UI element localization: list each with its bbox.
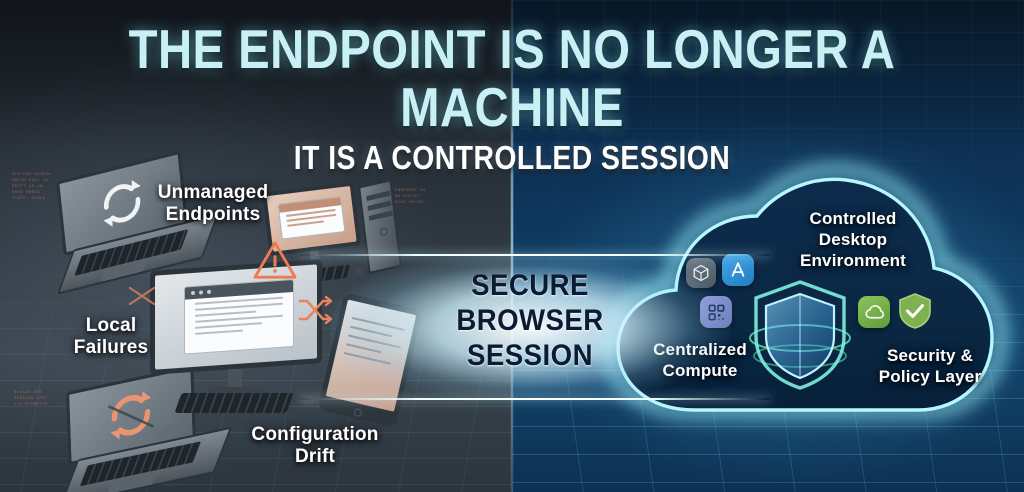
label-controlled-desktop-environment: Controlled Desktop Environment xyxy=(768,208,938,271)
sync-icon xyxy=(94,171,150,236)
monitor-mouse xyxy=(300,395,315,405)
label-line-1: Local xyxy=(56,315,166,337)
label-configuration-drift: Configuration Drift xyxy=(245,424,385,468)
label-line-1: Controlled xyxy=(768,208,938,229)
label-line-1: Security & xyxy=(855,345,1005,366)
text-line xyxy=(195,322,262,329)
cloud-icon xyxy=(864,302,885,323)
label-local-failures: Local Failures xyxy=(56,315,166,359)
warning-triangle-icon xyxy=(252,240,298,280)
label-line-1: Unmanaged xyxy=(148,182,278,204)
monitor-stand xyxy=(228,369,242,389)
app-tile-verified[interactable] xyxy=(898,292,932,330)
secure-browser-session-label: SECURE BROWSER SESSION xyxy=(429,268,631,373)
band-line-1: SECURE xyxy=(429,268,631,303)
label-line-2: Desktop xyxy=(768,229,938,250)
label-line-3: Environment xyxy=(768,250,938,271)
window-dot xyxy=(207,290,211,294)
drive-bay xyxy=(367,201,391,211)
text-line xyxy=(195,311,256,317)
band-line-2: BROWSER xyxy=(429,303,631,338)
text-line xyxy=(195,303,283,311)
window-dot xyxy=(191,291,195,295)
page-subtitle: IT IS A CONTROLLED SESSION xyxy=(72,140,953,176)
shield-check-icon xyxy=(898,292,932,330)
infographic-canvas: SYS.LOG 0x4F2A PATCH FAIL 22 DRIFT 18.4%… xyxy=(0,0,1024,492)
label-line-2: Endpoints xyxy=(148,204,278,226)
label-line-1: Configuration xyxy=(245,424,385,446)
power-button xyxy=(379,227,388,237)
document-window-icon xyxy=(278,196,346,239)
band-edge-top xyxy=(300,254,770,256)
text-line xyxy=(287,220,324,227)
label-unmanaged-endpoints: Unmanaged Endpoints xyxy=(148,182,278,226)
shuffle-icon xyxy=(298,296,332,324)
main-monitor xyxy=(150,265,328,415)
band-line-3: SESSION xyxy=(429,338,631,373)
label-security-policy-layer: Security & Policy Layer xyxy=(855,345,1005,387)
text-line xyxy=(195,315,283,323)
text-line xyxy=(195,330,243,335)
label-line-2: Failures xyxy=(56,337,166,359)
monitor-keyboard xyxy=(174,393,293,413)
header: THE ENDPOINT IS NO LONGER A MACHINE IT I… xyxy=(0,0,1024,150)
app-tile-cloud[interactable] xyxy=(858,296,890,328)
monitor-screen xyxy=(155,264,317,369)
label-line-2: Drift xyxy=(245,446,385,468)
browser-window-icon xyxy=(184,279,294,354)
window-dot xyxy=(199,290,203,294)
app-store-icon xyxy=(728,260,748,280)
label-line-2: Policy Layer xyxy=(855,366,1005,387)
band-edge-bottom xyxy=(300,398,770,400)
drive-bay xyxy=(369,211,393,221)
glitch-icon xyxy=(128,284,156,308)
page-title: THE ENDPOINT IS NO LONGER A MACHINE xyxy=(72,20,953,136)
drive-bay xyxy=(366,191,390,201)
